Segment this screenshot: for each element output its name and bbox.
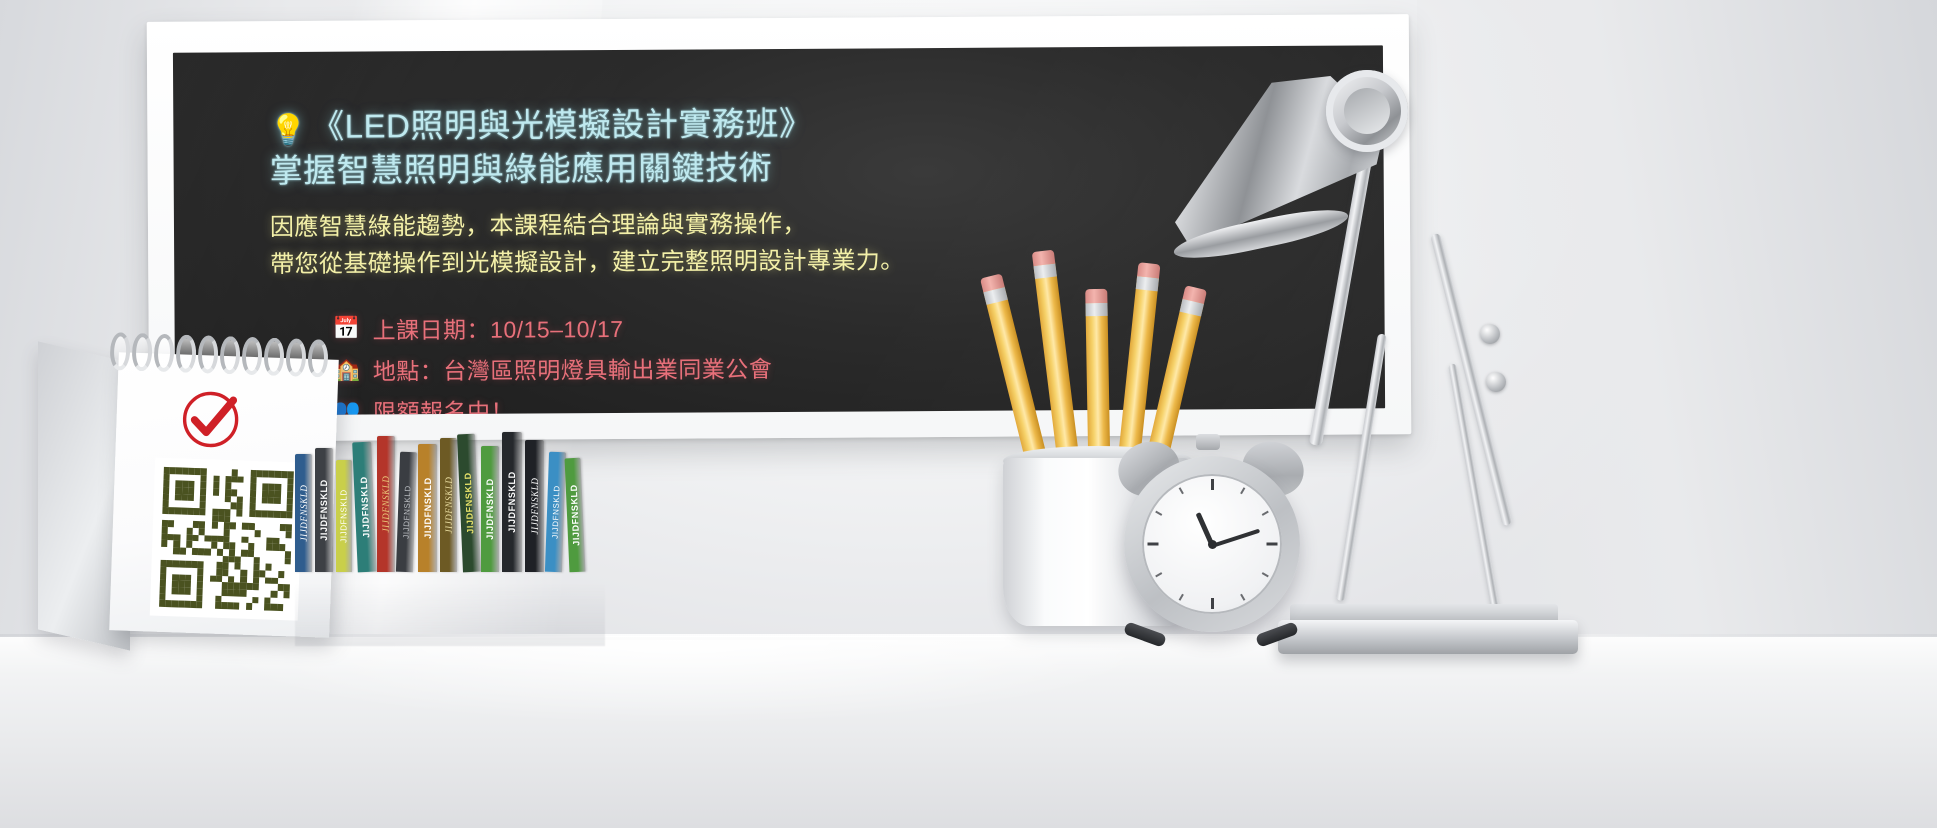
clock-body [1124, 456, 1300, 632]
clock-tick [1261, 511, 1268, 516]
book-title: JIJDFNSKLD [401, 485, 412, 539]
clock-tick [1211, 598, 1214, 609]
calendar-ring [131, 333, 152, 372]
lamp-arm-support-a [1336, 333, 1387, 601]
red-check-mark-icon [178, 386, 244, 452]
calendar-ring [241, 337, 262, 376]
calendar-ring [285, 338, 306, 377]
book-title: JIJDFNSKLD [319, 479, 329, 541]
book-title: JIJDFNSKLD [444, 477, 454, 534]
alarm-clock [1110, 432, 1340, 672]
book: JIJDFNSKLD [457, 434, 481, 573]
clock-tick [1261, 572, 1268, 577]
book: JIJDFNSKLD [502, 432, 522, 572]
book-title: JIJDFNSKLD [530, 478, 540, 535]
calendar-spiral-binding [109, 332, 336, 380]
book-title: JIJDFNSKLD [485, 478, 495, 540]
clock-tick [1178, 594, 1183, 601]
light-bulb-icon: 💡 [269, 114, 307, 147]
clock-foot-left [1123, 621, 1167, 648]
book: JIJDFNSKLD [418, 444, 437, 572]
book-title: JIJDFNSKLD [463, 472, 476, 534]
clock-tick [1240, 594, 1245, 601]
lamp-head-joint [1326, 70, 1408, 152]
book: JIJDFNSKLD [315, 448, 333, 572]
clock-tick [1155, 511, 1162, 516]
book-row-reflection [295, 572, 605, 646]
book: JIJDFNSKLD [565, 458, 586, 573]
clock-tick [1266, 543, 1277, 546]
calendar-icon: 📅 [333, 316, 359, 342]
clock-button [1196, 434, 1220, 450]
lamp-joint-upper [1480, 324, 1500, 344]
clock-tick [1211, 479, 1214, 490]
calendar-ring [219, 336, 240, 375]
detail-text-date: 上課日期：10/15–10/17 [373, 310, 624, 346]
book-title: JIJDFNSKLD [507, 471, 517, 533]
calendar-ring [109, 332, 130, 371]
desk-scene: 💡《LED照明與光模擬設計實務班》 掌握智慧照明與綠能應用關鍵技術 因應智慧綠能… [0, 0, 1937, 828]
book: JIJDFNSKLD [352, 442, 377, 573]
clock-tick [1147, 543, 1158, 546]
book-title: JIJDFNSKLD [550, 485, 561, 539]
book-title: JIJDFNSKLD [299, 485, 309, 542]
detail-text-quota: 限額報名中！ [373, 393, 514, 416]
book: JIJDFNSKLD [336, 460, 352, 572]
book: JIJDFNSKLD [545, 452, 566, 573]
book: JIJDFNSKLD [295, 454, 312, 572]
book: JIJDFNSKLD [396, 452, 417, 573]
clock-center-pin [1208, 540, 1217, 549]
calendar-ring [263, 337, 284, 376]
book-title: JIJDFNSKLD [358, 476, 371, 538]
clock-foot-right [1255, 621, 1299, 648]
lamp-joint-lower [1486, 372, 1506, 392]
qr-code[interactable] [150, 458, 303, 621]
clock-tick [1155, 572, 1162, 577]
calendar-ring [307, 339, 328, 378]
book: JIJDFNSKLD [525, 440, 544, 572]
calendar-ring [175, 334, 196, 373]
clock-minute-hand [1211, 529, 1260, 548]
clock-tick [1178, 487, 1183, 494]
clock-face [1142, 474, 1282, 614]
book-title: JIJDFNSKLD [381, 476, 391, 533]
flip-calendar [34, 330, 334, 660]
calendar-ring [197, 335, 218, 374]
book: JIJDFNSKLD [440, 438, 457, 572]
book-title: JIJDFNSKLD [340, 489, 349, 543]
book-title: JIJDFNSKLD [569, 484, 582, 546]
headline-text-1: 《LED照明與光模擬設計實務班》 [311, 105, 812, 145]
book: JIJDFNSKLD [481, 446, 499, 572]
book-title: JIJDFNSKLD [423, 477, 433, 539]
book: JIJDFNSKLD [377, 436, 395, 572]
calendar-ring [153, 334, 174, 373]
qr-module [283, 604, 289, 611]
clock-tick [1240, 487, 1245, 494]
book-row: JIJDFNSKLDJIJDFNSKLDJIJDFNSKLDJIJDFNSKLD… [295, 432, 605, 572]
detail-text-location: 地點：台灣區照明燈具輸出業同業公會 [373, 350, 773, 386]
